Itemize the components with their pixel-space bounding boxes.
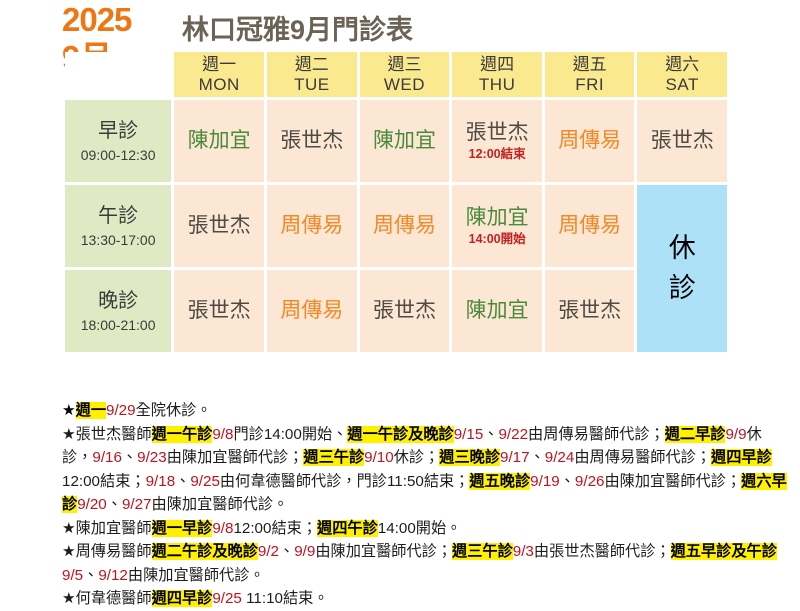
note-segment: 週三午診 [452, 543, 513, 560]
doctor-name: 張世杰 [267, 129, 357, 153]
note-segment: 週二早診 [665, 426, 726, 443]
day-header-en: FRI [545, 75, 634, 94]
doctor-name: 陳加宜 [360, 129, 450, 153]
table-row-evening: 晚診 18:00-21:00 張世杰 周傳易 張世杰 陳加宜 張世杰 [65, 270, 727, 352]
note-segment: 週五晚診 [469, 473, 530, 490]
note-segment: 、 [483, 426, 498, 443]
session-label-evening: 晚診 18:00-21:00 [65, 270, 171, 352]
session-time: 09:00-12:30 [65, 147, 171, 164]
schedule-cell-tue-afternoon: 周傳易 [267, 185, 357, 267]
note-segment: 9/22 [498, 426, 528, 443]
day-header-cn: 週六 [637, 55, 727, 74]
note-segment: 週四午診 [317, 520, 378, 537]
note-segment: ★何韋德醫師 [62, 590, 152, 607]
schedule-cell-thu-morning: 張世杰 12:00結束 [452, 100, 542, 182]
note-segment: ★周傳易醫師 [62, 543, 152, 560]
schedule-cell-mon-evening: 張世杰 [174, 270, 264, 352]
note-segment: 、 [530, 449, 545, 466]
note-segment: ★陳加宜醫師 [62, 520, 152, 537]
note-segment: 週一午診 [152, 426, 213, 443]
doctor-name: 周傳易 [360, 214, 450, 238]
doctor-name: 張世杰 [360, 299, 450, 323]
doctor-name: 張世杰 [174, 214, 264, 238]
day-header-en: SAT [637, 75, 727, 94]
doctor-name: 周傳易 [267, 299, 357, 323]
note-segment: 由周傳易醫師代診； [574, 449, 711, 466]
table-row-morning: 早診 09:00-12:30 陳加宜 張世杰 陳加宜 張世杰 12:00結束 周 [65, 100, 727, 182]
session-label-morning: 早診 09:00-12:30 [65, 100, 171, 182]
page-title: 林口冠雅9月門診表 [182, 8, 413, 47]
note-segment: 9/2 [258, 543, 279, 560]
table-corner-cell [65, 52, 171, 97]
note-segment: 週三晚診 [439, 449, 500, 466]
note-segment: 12:00結束； [233, 520, 317, 537]
session-name: 晚診 [65, 289, 171, 313]
doctor-name: 周傳易 [267, 214, 357, 238]
note-segment: 9/17 [500, 449, 530, 466]
note-segment: 由陳加宜醫師代診。 [152, 496, 289, 513]
schedule-cell-sat-closed: 休 診 [637, 185, 727, 352]
table-row-afternoon: 午診 13:30-17:00 張世杰 周傳易 周傳易 陳加宜 14:00開始 周 [65, 185, 727, 267]
schedule-cell-fri-afternoon: 周傳易 [545, 185, 634, 267]
note-segment: 、 [107, 496, 122, 513]
schedule-cell-fri-evening: 張世杰 [545, 270, 634, 352]
note-segment: 9/27 [122, 496, 152, 513]
day-header-cn: 週三 [360, 55, 450, 74]
day-header-en: THU [452, 75, 542, 94]
day-header-cn: 週四 [452, 55, 542, 74]
day-header-en: MON [174, 75, 264, 94]
day-header-wed: 週三 WED [360, 52, 450, 97]
note-segment: 9/16 [92, 449, 122, 466]
note-segment: 週四早診 [711, 449, 772, 466]
note-line: ★張世杰醫師週一午診9/8門診14:00開始、週一午診及晚診9/15、9/22由… [62, 423, 788, 517]
note-segment: 9/26 [575, 473, 605, 490]
note-segment: 9/8 [212, 426, 233, 443]
table-header-row: 週一 MON 週二 TUE 週三 WED 週四 THU 週五 FRI [65, 52, 727, 97]
note-line: ★何韋德醫師週四早診9/25 11:10結束。 [62, 587, 788, 611]
note-segment: 9/18 [146, 473, 176, 490]
doctor-name: 陳加宜 [174, 129, 264, 153]
note-segment: 週二午診及晚診 [152, 543, 258, 560]
day-header-mon: 週一 MON [174, 52, 264, 97]
session-time: 18:00-21:00 [65, 317, 171, 334]
note-segment: 9/10 [364, 449, 394, 466]
doctor-name: 陳加宜 [452, 299, 542, 323]
schedule-cell-fri-morning: 周傳易 [545, 100, 634, 182]
note-segment: 9/25 [212, 590, 242, 607]
note-segment: 9/23 [137, 449, 167, 466]
note-segment: 14:00開始。 [378, 520, 462, 537]
note-segment: 由陳加宜醫師代診； [604, 473, 741, 490]
session-label-afternoon: 午診 13:30-17:00 [65, 185, 171, 267]
page-header: 2025 9月 林口冠雅9月門診表 [0, 0, 800, 46]
note-segment: 9/8 [212, 520, 233, 537]
note-segment: 9/24 [545, 449, 575, 466]
rest-label-top: 休 [637, 229, 727, 268]
cell-time-note: 12:00結束 [452, 147, 542, 161]
session-time: 13:30-17:00 [65, 232, 171, 249]
clinic-schedule-page: 2025 9月 林口冠雅9月門診表 週一 MON 週二 TUE 週三 WED [0, 0, 800, 600]
schedule-cell-mon-morning: 陳加宜 [174, 100, 264, 182]
note-segment: 9/3 [513, 543, 534, 560]
schedule-cell-tue-morning: 張世杰 [267, 100, 357, 182]
schedule-cell-mon-afternoon: 張世杰 [174, 185, 264, 267]
note-line: ★週一9/29全院休診。 [62, 399, 788, 423]
day-header-en: WED [360, 75, 450, 94]
note-segment: 9/29 [106, 402, 136, 419]
note-segment: 、 [175, 473, 190, 490]
note-segment: 、 [560, 473, 575, 490]
note-segment: 、 [279, 543, 294, 560]
note-segment: 9/25 [190, 473, 220, 490]
day-header-cn: 週五 [545, 55, 634, 74]
doctor-name: 張世杰 [545, 299, 634, 323]
note-segment: 11:10結束。 [242, 590, 329, 607]
session-name: 午診 [65, 204, 171, 228]
note-segment: 週五早診及午診 [671, 543, 777, 560]
note-line: ★陳加宜醫師週一早診9/812:00結束；週四午診14:00開始。 [62, 517, 788, 541]
note-segment: 由陳加宜醫師代診； [315, 543, 452, 560]
note-segment: 週一早診 [152, 520, 213, 537]
day-header-cn: 週二 [267, 55, 357, 74]
note-segment: 週三午診 [303, 449, 364, 466]
cell-time-note: 14:00開始 [452, 232, 542, 246]
day-header-cn: 週一 [174, 55, 264, 74]
note-segment: 週四早診 [152, 590, 213, 607]
note-line: ★周傳易醫師週二午診及晚診9/2、9/9由陳加宜醫師代診；週三午診9/3由張世杰… [62, 540, 788, 587]
note-segment: ★ [62, 402, 76, 419]
schedule-cell-sat-morning: 張世杰 [637, 100, 727, 182]
doctor-name: 張世杰 [452, 121, 542, 145]
schedule-cell-wed-afternoon: 周傳易 [360, 185, 450, 267]
doctor-name: 周傳易 [545, 129, 634, 153]
note-segment: 由周傳易醫師代診； [528, 426, 665, 443]
note-segment: 9/9 [725, 426, 746, 443]
schedule-cell-thu-evening: 陳加宜 [452, 270, 542, 352]
session-name: 早診 [65, 119, 171, 143]
schedule-cell-wed-morning: 陳加宜 [360, 100, 450, 182]
note-segment: 由陳加宜醫師代診； [167, 449, 304, 466]
note-segment: 、 [122, 449, 137, 466]
day-header-sat: 週六 SAT [637, 52, 727, 97]
note-segment: 、 [83, 567, 98, 584]
note-segment: 由張世杰醫師代診； [534, 543, 671, 560]
note-segment: 9/20 [77, 496, 107, 513]
year-label: 2025 [62, 2, 172, 37]
doctor-name: 陳加宜 [452, 206, 542, 230]
day-header-en: TUE [267, 75, 357, 94]
doctor-name: 張世杰 [174, 299, 264, 323]
note-segment: 12:00結束； [62, 473, 146, 490]
notes-section: ★週一9/29全院休診。 ★張世杰醫師週一午診9/8門診14:00開始、週一午診… [62, 399, 788, 611]
note-segment: 週一午診及晚診 [347, 426, 453, 443]
day-header-fri: 週五 FRI [545, 52, 634, 97]
note-segment: 9/15 [454, 426, 484, 443]
note-segment: 9/9 [294, 543, 315, 560]
day-header-thu: 週四 THU [452, 52, 542, 97]
schedule-cell-thu-afternoon: 陳加宜 14:00開始 [452, 185, 542, 267]
schedule-cell-wed-evening: 張世杰 [360, 270, 450, 352]
note-segment: 由何韋德醫師代診，門診11:50結束； [220, 473, 470, 490]
schedule-table: 週一 MON 週二 TUE 週三 WED 週四 THU 週五 FRI [62, 49, 730, 355]
schedule-cell-tue-evening: 周傳易 [267, 270, 357, 352]
note-segment: 9/12 [98, 567, 128, 584]
doctor-name: 周傳易 [545, 214, 634, 238]
rest-label-bottom: 診 [637, 269, 727, 308]
note-segment: 週一 [76, 402, 106, 419]
note-segment: 9/5 [62, 567, 83, 584]
note-segment: 9/19 [530, 473, 560, 490]
note-segment: 全院休診。 [136, 402, 212, 419]
doctor-name: 張世杰 [637, 129, 727, 153]
note-segment: 門診14:00開始、 [233, 426, 347, 443]
note-segment: ★張世杰醫師 [62, 426, 152, 443]
day-header-tue: 週二 TUE [267, 52, 357, 97]
note-segment: 休診； [394, 449, 440, 466]
note-segment: 由陳加宜醫師代診。 [128, 567, 265, 584]
